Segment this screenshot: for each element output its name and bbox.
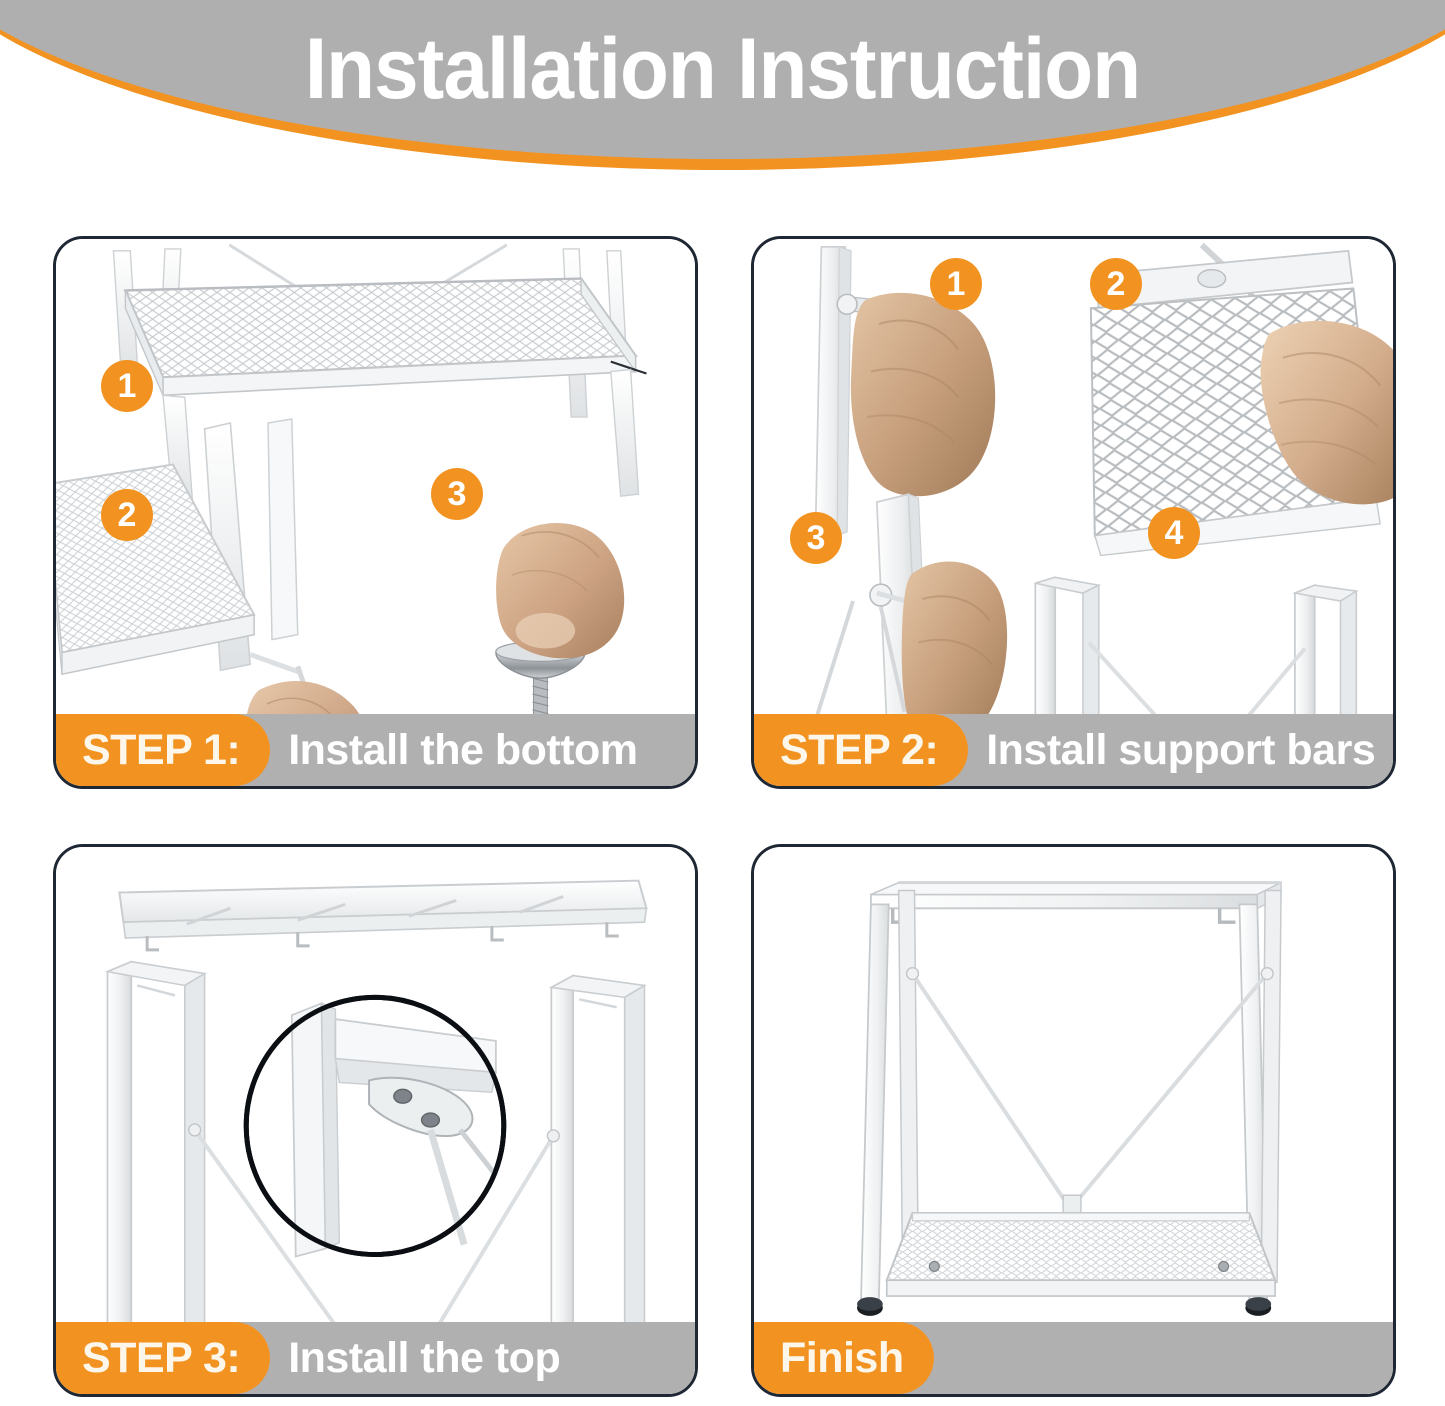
step-panel-2: STEP 2: Install support bars (751, 236, 1396, 789)
step-2-description: Install support bars (986, 726, 1375, 775)
step-1-description: Install the bottom (288, 726, 637, 775)
step-3-description: Install the top (288, 1334, 560, 1383)
step-2-badge-2: 2 (1090, 258, 1142, 310)
step-2-illustration (754, 239, 1393, 786)
step-3-label: STEP 3: (56, 1322, 270, 1394)
step-3-caption-bar: STEP 3: Install the top (56, 1322, 695, 1394)
step-1-caption-bar: STEP 1: Install the bottom (56, 714, 695, 786)
step-2-label: STEP 2: (754, 714, 968, 786)
step-panel-3: STEP 3: Install the top (53, 844, 698, 1397)
step-1-label: STEP 1: (56, 714, 270, 786)
step-1-badge-1: 1 (101, 360, 153, 412)
instruction-sheet: Installation Instruction (0, 0, 1445, 1406)
finish-panel: Finish (751, 844, 1396, 1397)
step-3-illustration (56, 847, 695, 1394)
step-1-badge-3: 3 (431, 468, 483, 520)
step-2-caption-bar: STEP 2: Install support bars (754, 714, 1393, 786)
finish-caption-bar: Finish (754, 1322, 1393, 1394)
step-2-badge-1: 1 (930, 258, 982, 310)
finished-product-illustration (754, 847, 1393, 1394)
finish-label: Finish (754, 1322, 934, 1394)
step-2-badge-3: 3 (790, 512, 842, 564)
step-1-badge-2: 2 (101, 489, 153, 541)
step-2-badge-4: 4 (1148, 507, 1200, 559)
header-banner: Installation Instruction (0, 0, 1445, 190)
page-title: Installation Instruction (51, 24, 1395, 114)
